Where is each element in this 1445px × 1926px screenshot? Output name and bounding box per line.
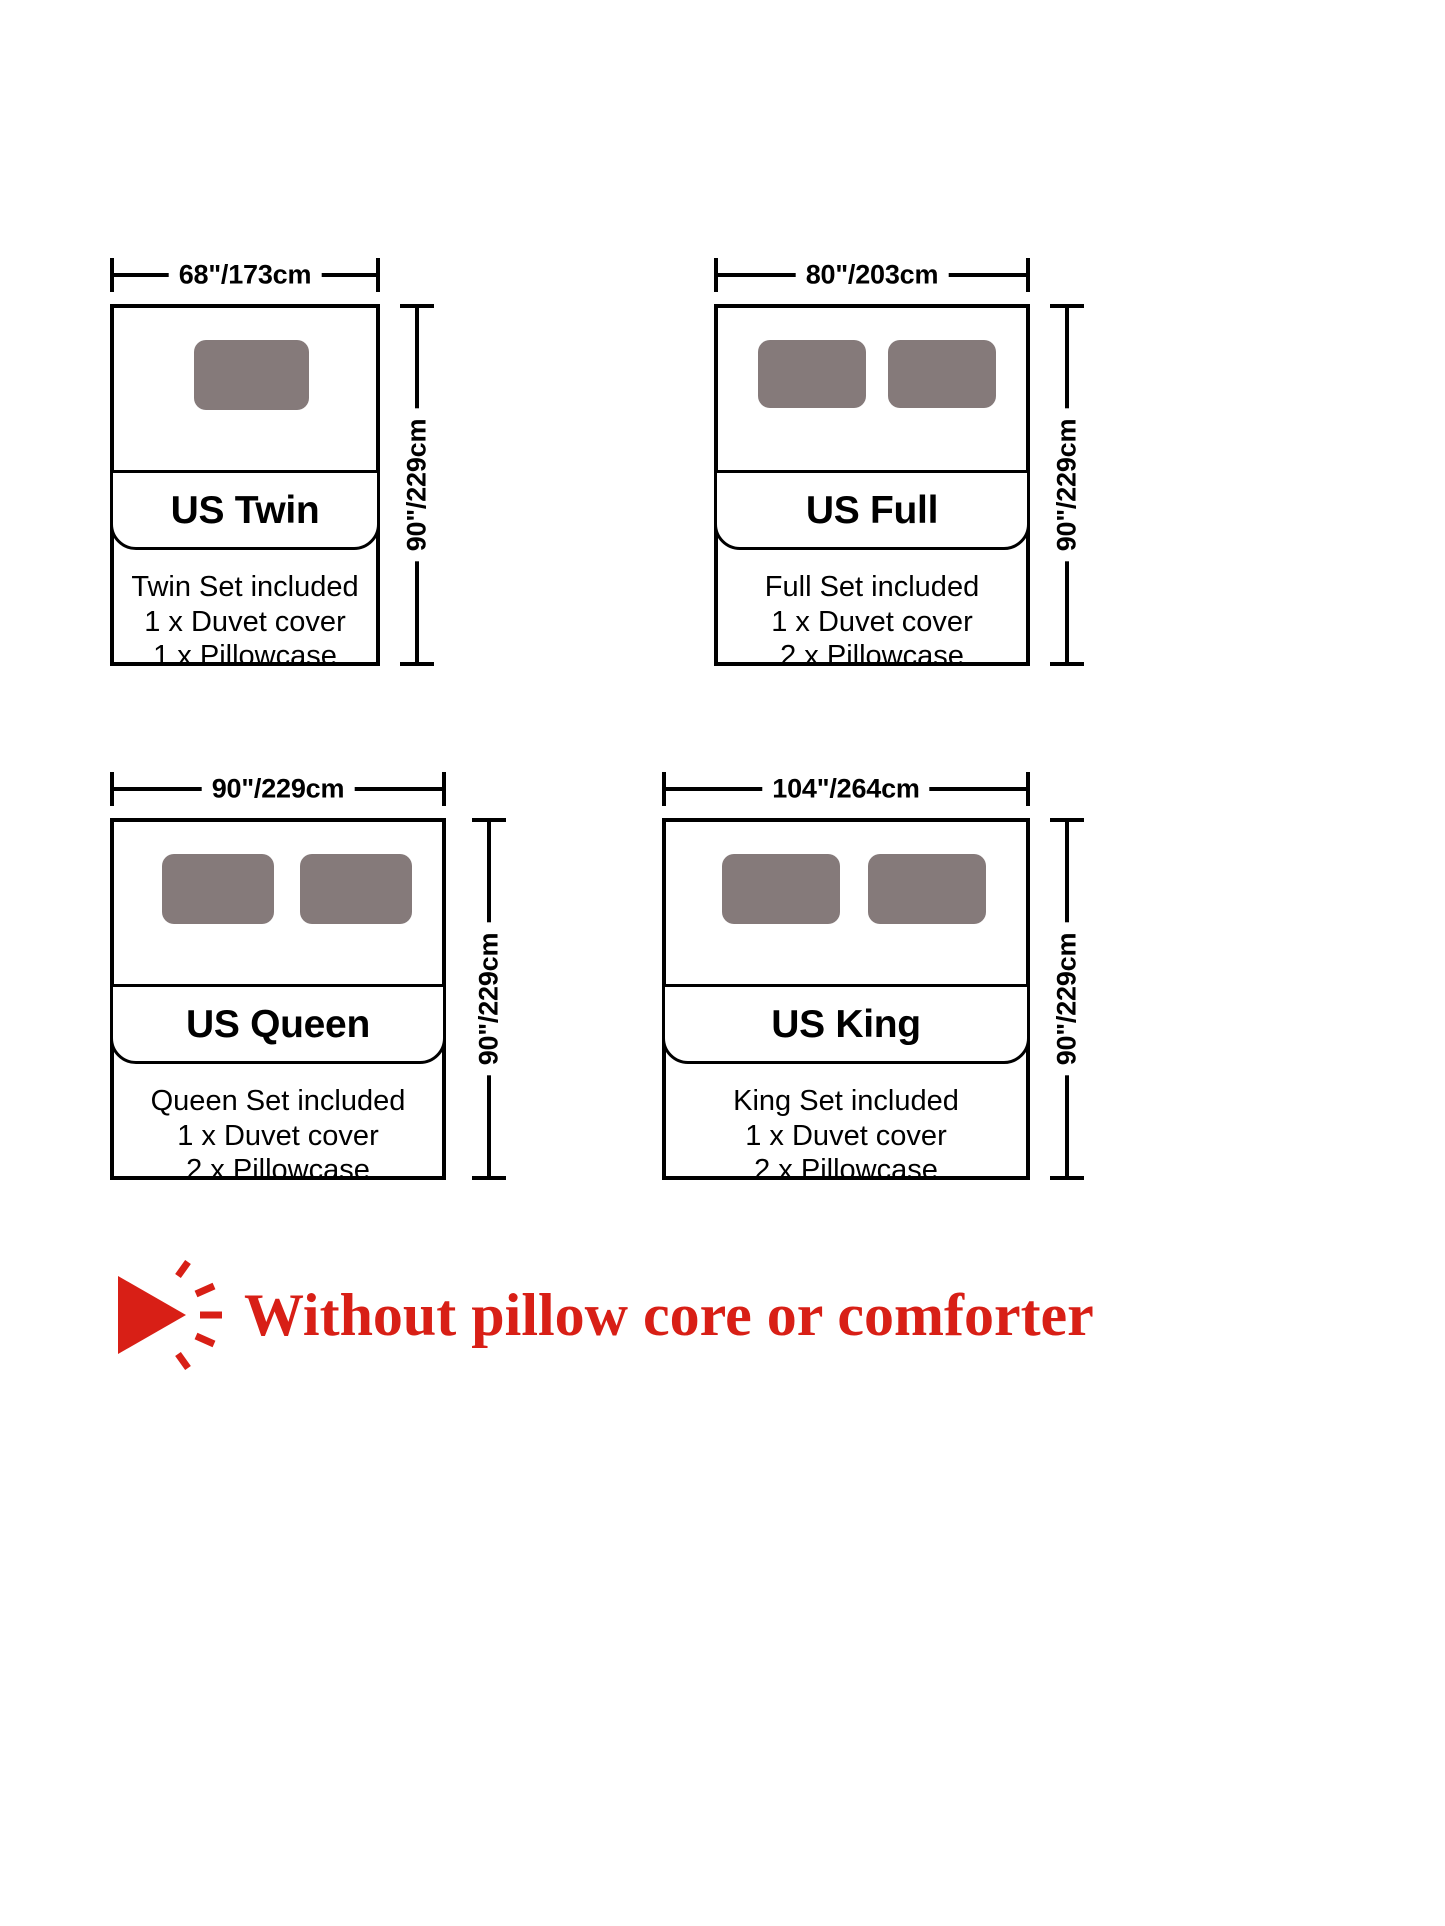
dimension-cap-right (1026, 772, 1030, 806)
width-label-us-full: 80"/203cm (796, 262, 949, 289)
dimension-cap-right (376, 258, 380, 292)
bed-card-us-queen: 90"/229cm 90"/229cm US Queen Queen Set i… (110, 772, 446, 1180)
width-label-us-queen: 90"/229cm (202, 776, 355, 803)
width-dimension-us-queen: 90"/229cm (110, 772, 446, 806)
pillow (194, 340, 309, 410)
height-dimension-us-queen: 90"/229cm (472, 818, 506, 1180)
desc-line-3: 2 x Pillowcase (114, 1153, 442, 1188)
width-dimension-us-full: 80"/203cm (714, 258, 1030, 292)
mattress-us-full: US Full Full Set included 1 x Duvet cove… (714, 304, 1030, 666)
bed-description-us-king: King Set included 1 x Duvet cover 2 x Pi… (666, 1084, 1026, 1188)
duvet-band-us-queen: US Queen (110, 984, 446, 1064)
height-label-us-king: 90"/229cm (1054, 923, 1081, 1076)
dimension-cap-top (1050, 304, 1084, 308)
dimension-cap-top (472, 818, 506, 822)
bed-description-us-full: Full Set included 1 x Duvet cover 2 x Pi… (718, 570, 1026, 674)
red-arrow-burst-icon (110, 1260, 230, 1370)
mattress-us-twin: US Twin Twin Set included 1 x Duvet cove… (110, 304, 380, 666)
mattress-us-queen: US Queen Queen Set included 1 x Duvet co… (110, 818, 446, 1180)
width-label-us-twin: 68"/173cm (169, 262, 322, 289)
desc-line-2: 1 x Duvet cover (718, 605, 1026, 640)
pillow (722, 854, 840, 924)
height-dimension-us-king: 90"/229cm (1050, 818, 1084, 1180)
height-dimension-us-full: 90"/229cm (1050, 304, 1084, 666)
desc-line-3: 2 x Pillowcase (666, 1153, 1026, 1188)
dimension-cap-top (400, 304, 434, 308)
duvet-band-us-twin: US Twin (110, 470, 380, 550)
desc-line-2: 1 x Duvet cover (114, 605, 376, 640)
width-dimension-us-king: 104"/264cm (662, 772, 1030, 806)
height-label-us-full: 90"/229cm (1054, 409, 1081, 562)
bed-description-us-queen: Queen Set included 1 x Duvet cover 2 x P… (114, 1084, 442, 1188)
dimension-cap-bottom (1050, 662, 1084, 666)
duvet-band-us-king: US King (662, 984, 1030, 1064)
desc-line-1: Twin Set included (114, 570, 376, 605)
notice-text: Without pillow core or comforter (244, 1285, 1094, 1345)
duvet-band-us-full: US Full (714, 470, 1030, 550)
pillow (162, 854, 274, 924)
desc-line-2: 1 x Duvet cover (666, 1119, 1026, 1154)
bed-card-us-king: 104"/264cm 90"/229cm US King King Set in… (662, 772, 1030, 1180)
dimension-cap-right (442, 772, 446, 806)
bed-card-us-full: 80"/203cm 90"/229cm US Full Full Set inc… (714, 258, 1030, 666)
mattress-us-king: US King King Set included 1 x Duvet cove… (662, 818, 1030, 1180)
dimension-cap-right (1026, 258, 1030, 292)
desc-line-1: Full Set included (718, 570, 1026, 605)
width-label-us-king: 104"/264cm (762, 776, 929, 803)
dimension-cap-left (714, 258, 718, 292)
dimension-cap-bottom (1050, 1176, 1084, 1180)
bed-description-us-twin: Twin Set included 1 x Duvet cover 1 x Pi… (114, 570, 376, 674)
bed-size-name-us-queen: US Queen (186, 1005, 370, 1044)
bed-size-name-us-full: US Full (806, 491, 938, 530)
pillow (300, 854, 412, 924)
notice-banner: Without pillow core or comforter (110, 1255, 1094, 1375)
height-dimension-us-twin: 90"/229cm (400, 304, 434, 666)
height-label-us-twin: 90"/229cm (404, 409, 431, 562)
bed-size-name-us-king: US King (771, 1005, 921, 1044)
pillow (758, 340, 866, 408)
bed-card-us-twin: 68"/173cm 90"/229cm US Twin Twin Set inc… (110, 258, 380, 666)
bed-size-name-us-twin: US Twin (171, 491, 320, 530)
desc-line-3: 1 x Pillowcase (114, 639, 376, 674)
dimension-cap-top (1050, 818, 1084, 822)
width-dimension-us-twin: 68"/173cm (110, 258, 380, 292)
dimension-cap-left (662, 772, 666, 806)
pillow (888, 340, 996, 408)
desc-line-1: King Set included (666, 1084, 1026, 1119)
dimension-cap-left (110, 258, 114, 292)
dimension-cap-left (110, 772, 114, 806)
size-chart-sheet: 68"/173cm 90"/229cm US Twin Twin Set inc… (0, 0, 1445, 1926)
desc-line-3: 2 x Pillowcase (718, 639, 1026, 674)
desc-line-1: Queen Set included (114, 1084, 442, 1119)
dimension-cap-bottom (472, 1176, 506, 1180)
pillow (868, 854, 986, 924)
height-label-us-queen: 90"/229cm (476, 923, 503, 1076)
dimension-cap-bottom (400, 662, 434, 666)
desc-line-2: 1 x Duvet cover (114, 1119, 442, 1154)
